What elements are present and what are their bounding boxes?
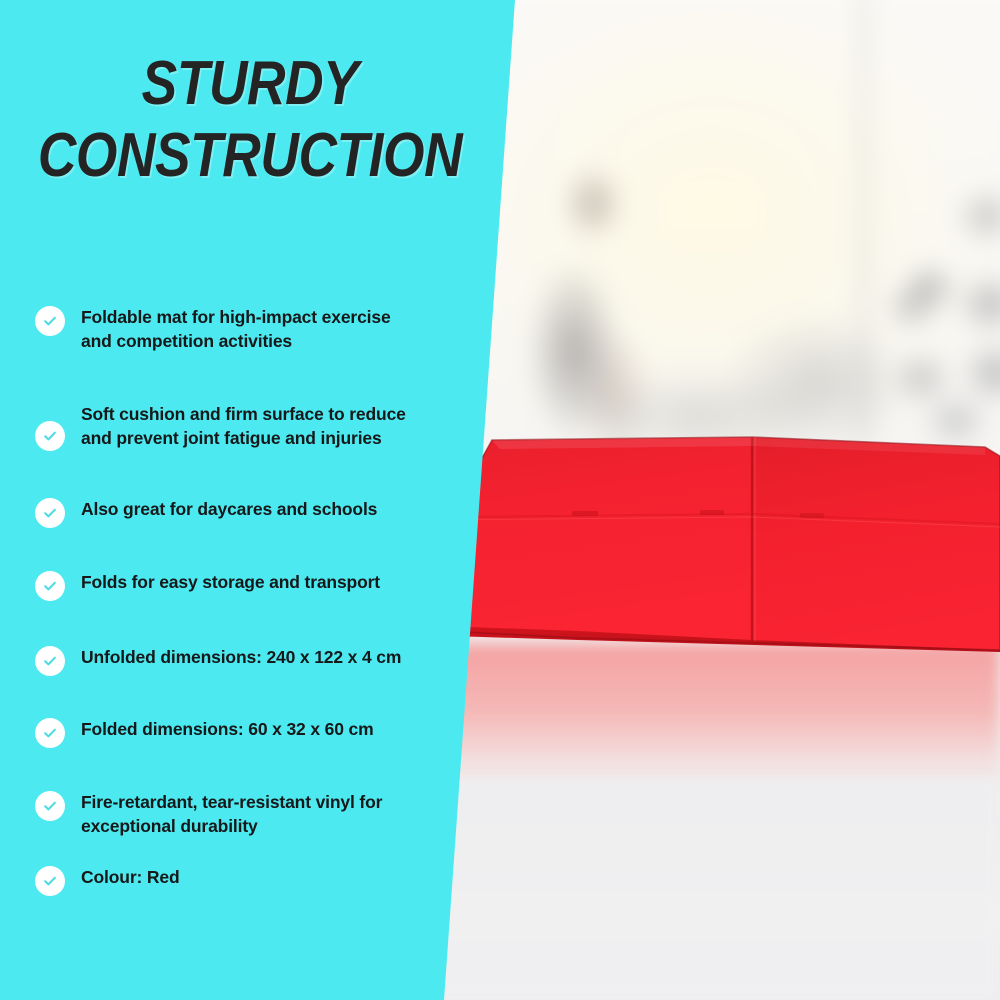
list-item-label: Colour: Red: [81, 866, 411, 890]
product-feature-image: STURDY CONSTRUCTION Foldable mat for hig…: [0, 0, 1000, 1000]
check-circle-icon: [35, 718, 65, 748]
list-item-label: Fire-retardant, tear-resistant vinyl for…: [81, 791, 411, 839]
list-item-label: Soft cushion and firm surface to reduce …: [81, 403, 411, 451]
list-item-label: Unfolded dimensions: 240 x 122 x 4 cm: [81, 646, 411, 670]
mat-panel-right: [752, 437, 1000, 650]
list-item-label: Foldable mat for high-impact exercise an…: [81, 306, 411, 354]
list-item-label: Folds for easy storage and transport: [81, 571, 411, 595]
list-item-label: Folded dimensions: 60 x 32 x 60 cm: [81, 718, 411, 742]
check-circle-icon: [35, 306, 65, 336]
check-circle-icon: [35, 866, 65, 896]
check-circle-icon: [35, 421, 65, 451]
check-circle-icon: [35, 791, 65, 821]
list-item-label: Also great for daycares and schools: [81, 498, 411, 522]
check-circle-icon: [35, 646, 65, 676]
check-circle-icon: [35, 571, 65, 601]
check-circle-icon: [35, 498, 65, 528]
